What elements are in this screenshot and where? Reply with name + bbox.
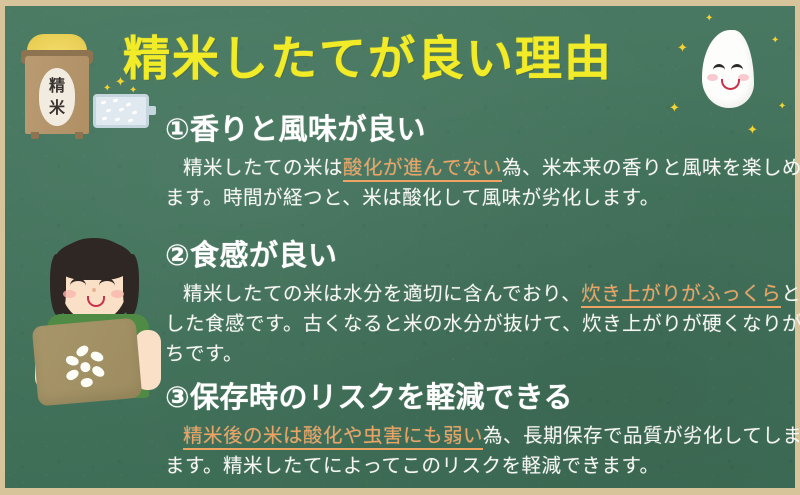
sparkle-star-icon: ✦ [771, 36, 779, 46]
hair-front [55, 240, 133, 280]
sparkle-star-icon: ✦ [705, 14, 713, 24]
mascot-eye-left [713, 64, 725, 74]
sparkle-star-icon: ✦ [778, 102, 786, 112]
mascot-cheek-left [707, 74, 718, 81]
rice-sack [32, 318, 143, 407]
section-1-highlight: 酸化が進んでない [343, 156, 502, 182]
chalkboard-poster: 精 米 [0, 0, 800, 495]
section-1-body: 精米したての米は酸化が進んでない為、米本来の香りと風味を楽しめます。時間が経つと… [165, 153, 800, 213]
section-3-body: 精米後の米は酸化や虫害にも弱い為、長期保存で品質が劣化してしまいます。精米したて… [165, 421, 800, 481]
cheek-left [63, 290, 76, 298]
rice-bag-label-line1: 精 [39, 78, 75, 94]
eye-right [99, 278, 115, 290]
mascot-body [702, 30, 754, 108]
rice-grain-mascot [702, 30, 754, 108]
section-2-body: 精米したての米は水分を適切に含んでおり、炊き上がりがふっくらとした食感です。古く… [165, 279, 800, 370]
mascot-eye-right [731, 64, 743, 74]
section-1-body-pre: 精米したての米は [183, 156, 343, 179]
rice-tray-handle [147, 106, 156, 115]
section-3: ③保存時のリスクを軽減できる 精米後の米は酸化や虫害にも弱い為、長期保存で品質が… [165, 382, 800, 481]
rice-bag-illustration: 精 米 [17, 28, 97, 140]
section-3-heading: ③保存時のリスクを軽減できる [165, 382, 800, 414]
nose [92, 288, 96, 292]
cheek-right [111, 290, 124, 298]
section-2-body-pre: 精米したての米は水分を適切に含んでおり、 [183, 282, 581, 305]
page-title: 精米したてが良い理由 [123, 36, 613, 83]
rice-bag-label-line2: 米 [39, 100, 75, 116]
woman-holding-rice-sack-illustration [29, 234, 165, 402]
section-1-heading: ①香りと風味が良い [165, 114, 800, 146]
rice-bag-foot-left [31, 132, 39, 139]
rice-bag-foot-right [75, 132, 83, 139]
section-3-highlight: 精米後の米は酸化や虫害にも弱い [183, 424, 483, 450]
section-2: ②食感が良い 精米したての米は水分を適切に含んでおり、炊き上がりがふっくらとした… [165, 240, 800, 370]
section-2-highlight: 炊き上がりがふっくら [581, 282, 781, 308]
eye-left [70, 278, 86, 290]
section-2-heading: ②食感が良い [165, 240, 800, 272]
section-1: ①香りと風味が良い 精米したての米は酸化が進んでない為、米本来の香りと風味を楽し… [165, 114, 800, 213]
sparkle-star-icon: ✦ [677, 42, 688, 55]
rice-bag-label: 精 米 [39, 68, 75, 126]
sparkle-star-icon: ✦ [103, 84, 111, 94]
rice-tray-illustration [93, 94, 149, 128]
